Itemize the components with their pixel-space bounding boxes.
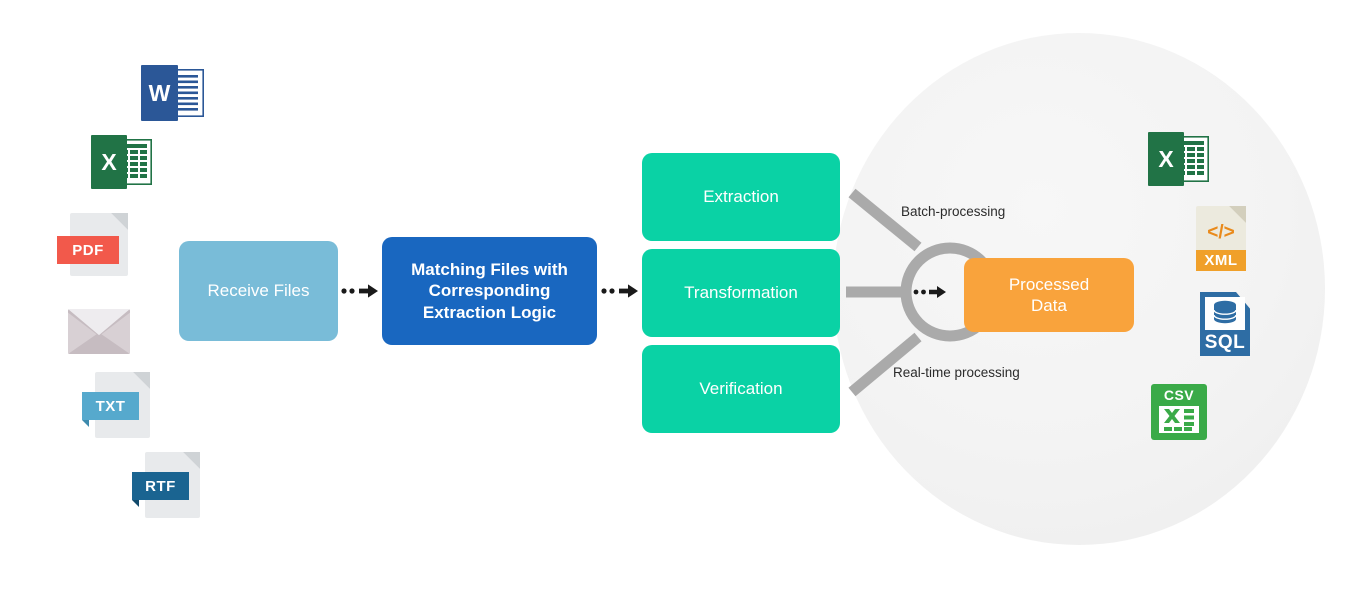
csv-panel (1159, 406, 1199, 433)
xml-file-icon: </> XML (1196, 206, 1246, 271)
verification-label: Verification (699, 378, 782, 399)
excel-file-icon: X (91, 135, 152, 189)
stage-transformation[interactable]: Transformation (642, 249, 840, 337)
diagram-canvas: W X (0, 0, 1368, 591)
processed-line-1: Processed (1009, 274, 1089, 295)
arrow-receive-to-matching (341, 282, 381, 300)
rtf-label-badge: RTF (132, 472, 189, 500)
label-batch-processing: Batch-processing (901, 204, 1005, 219)
output-excel-letter-badge: X (1148, 132, 1184, 186)
excel-letter-badge: X (91, 135, 127, 189)
pdf-label-badge: PDF (57, 236, 119, 264)
matching-line-3: Extraction Logic (411, 302, 568, 323)
csv-file-icon: CSV (1151, 384, 1207, 440)
database-cylinder-icon (1205, 297, 1245, 330)
output-excel-file-icon: X (1148, 132, 1209, 186)
xml-code-glyph: </> (1196, 222, 1246, 244)
email-envelope-icon (68, 309, 130, 354)
xml-label-badge: XML (1196, 250, 1246, 271)
stage-matching-files[interactable]: Matching Files with Corresponding Extrac… (382, 237, 597, 345)
matching-line-1: Matching Files with (411, 259, 568, 280)
csv-label: CSV (1151, 387, 1207, 403)
sql-database-file-icon: SQL (1200, 292, 1250, 356)
word-letter-badge: W (141, 65, 178, 121)
processed-line-2: Data (1009, 295, 1089, 316)
rtf-file-icon: RTF (145, 452, 200, 518)
word-file-icon: W (141, 65, 204, 121)
sql-inner-panel (1205, 297, 1245, 330)
stage-verification[interactable]: Verification (642, 345, 840, 433)
matching-line-2: Corresponding (411, 280, 568, 301)
merge-arm-top (852, 193, 918, 247)
arrow-matching-to-processing (601, 282, 641, 300)
txt-file-icon: TXT (95, 372, 150, 438)
arrow-into-processed-data (913, 283, 949, 301)
stage-receive-files[interactable]: Receive Files (179, 241, 338, 341)
sql-label: SQL (1200, 332, 1250, 354)
transformation-label: Transformation (684, 282, 798, 303)
stage-processed-data[interactable]: Processed Data (964, 258, 1134, 332)
label-realtime-processing: Real-time processing (893, 365, 1020, 380)
stage-extraction[interactable]: Extraction (642, 153, 840, 241)
receive-files-label: Receive Files (207, 280, 309, 301)
pdf-file-icon: PDF (70, 213, 128, 276)
txt-badge-tail (82, 420, 89, 427)
txt-label-badge: TXT (82, 392, 139, 420)
rtf-badge-tail (132, 500, 139, 507)
extraction-label: Extraction (703, 186, 779, 207)
csv-grid-glyph (1159, 406, 1199, 433)
